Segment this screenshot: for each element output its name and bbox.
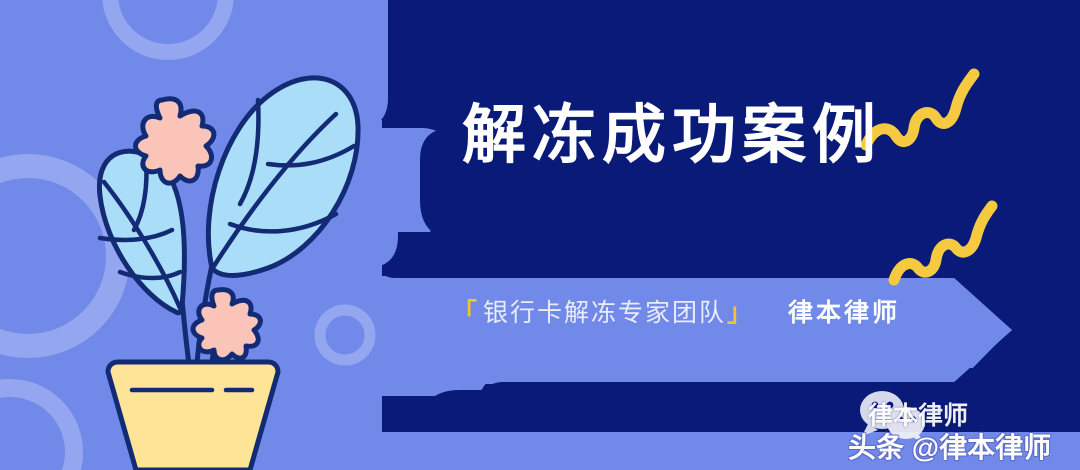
- page-title: 解冻成功案例: [462, 104, 882, 168]
- subtitle-firm-label: 律本律师: [788, 300, 900, 328]
- toutiao-watermark-label: 头条 @律本律师: [848, 426, 1051, 466]
- flower-pot: [108, 362, 278, 470]
- navy-panel-step: [388, 0, 460, 128]
- subtitle-team-label: 银行卡解冻专家团队: [483, 300, 726, 328]
- arrow-shaft: [300, 276, 910, 384]
- banner-root: 解冻成功案例 「 银行卡解冻专家团队 」 律本律师 律本律师 头条 @律本律师: [0, 0, 1080, 470]
- lower-bar-rounded-left: [480, 382, 1080, 432]
- bracket-open-icon: 「: [452, 300, 479, 328]
- bracket-close-icon: 」: [727, 300, 754, 328]
- subtitle-row: 「 银行卡解冻专家团队 」 律本律师: [452, 300, 900, 328]
